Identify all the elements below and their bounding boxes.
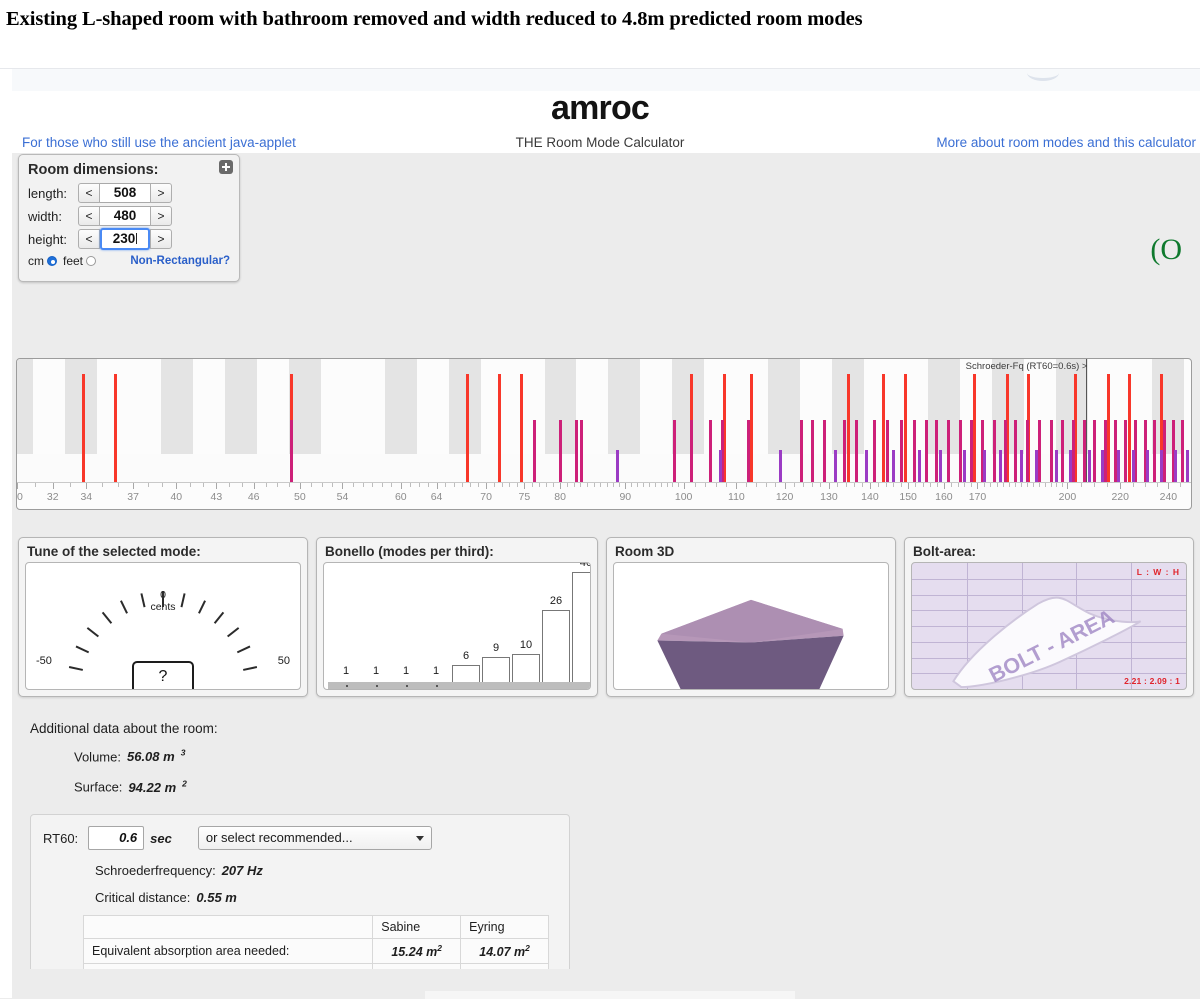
equivalent-area-eyring-exp: 2	[525, 943, 530, 953]
rt60-unit-label: sec	[150, 831, 172, 846]
bonello-bar-value: 1	[373, 665, 379, 677]
length-increment-button[interactable]: >	[150, 183, 172, 203]
mode-line-tangential[interactable]	[575, 420, 578, 482]
bonello-bar[interactable]	[572, 572, 591, 682]
mode-line-tangential[interactable]	[1181, 420, 1184, 482]
axis-tick-label: 43	[210, 491, 222, 503]
bonello-bar[interactable]	[376, 685, 378, 687]
mode-line-oblique[interactable]	[1186, 450, 1189, 482]
height-input-value: 230	[113, 231, 136, 246]
volume-exponent: 3	[181, 748, 186, 758]
axis-tick-label: 37	[127, 491, 139, 503]
mode-line-oblique[interactable]	[1020, 450, 1023, 482]
mode-line-axial[interactable]	[1107, 374, 1110, 482]
surface-row: Surface:94.22 m2	[74, 778, 730, 794]
volume-row: Volume:56.08 m3	[74, 748, 730, 764]
mode-line-oblique[interactable]	[779, 450, 782, 482]
tuner-max-label: 50	[278, 655, 290, 667]
axis-tick-label: 54	[337, 491, 349, 503]
bonello-bar-value: 10	[520, 639, 532, 651]
axis-tick-label: 50	[294, 491, 306, 503]
bonello-bar[interactable]	[452, 665, 480, 682]
tuner-tick	[69, 666, 83, 671]
rt60-section: RT60: 0.6 sec or select recommended... S…	[30, 814, 570, 991]
mode-line-tangential[interactable]	[823, 420, 826, 482]
mode-line-oblique[interactable]	[1160, 450, 1163, 482]
length-decrement-button[interactable]: <	[78, 183, 100, 203]
page-title: Existing L-shaped room with bathroom rem…	[0, 0, 1200, 34]
axis-tick-label: 120	[776, 491, 794, 503]
surface-exponent: 2	[182, 778, 187, 788]
mode-line-tangential[interactable]	[1050, 420, 1053, 482]
rt60-select-value: or select recommended...	[206, 830, 353, 845]
table-col-eyring: Eyring	[461, 916, 549, 939]
table-row: Equivalent absorption area needed: 15.24…	[84, 939, 549, 964]
panel-bonello-title: Bonello (modes per third):	[325, 544, 591, 559]
tuner-min-label: -50	[36, 655, 52, 667]
bonello-bar-value: 1	[403, 665, 409, 677]
tuner-tick	[214, 612, 224, 624]
mode-line-tangential[interactable]	[690, 420, 693, 482]
mode-line-axial[interactable]	[114, 374, 117, 482]
mode-line-axial[interactable]	[498, 374, 501, 482]
mode-line-tangential[interactable]	[1093, 420, 1096, 482]
panel-room-3d: Room 3D	[606, 537, 896, 697]
axis-tick-label: 40	[170, 491, 182, 503]
tuner-tick	[180, 593, 185, 607]
page-left-edge	[0, 69, 12, 998]
table-header-row: Sabine Eyring	[84, 916, 549, 939]
green-logo-glyph: (O	[1150, 233, 1182, 267]
tuner-tick	[76, 646, 90, 654]
bonello-bar-value: 6	[463, 650, 469, 662]
panel-bolt-title: Bolt-area:	[913, 544, 1187, 559]
mode-line-tangential[interactable]	[900, 420, 903, 482]
axis-tick-label: 110	[728, 491, 745, 503]
width-label: width:	[28, 209, 78, 224]
mode-line-tangential[interactable]	[1153, 420, 1156, 482]
mode-line-tangential[interactable]	[800, 420, 803, 482]
row-label-equivalent-absorption-area: Equivalent absorption area needed:	[84, 939, 373, 964]
axis-tick-label: 130	[820, 491, 838, 503]
mode-line-oblique[interactable]	[834, 450, 837, 482]
frequency-axis: 3032343740434650546064707580901001101201…	[17, 482, 1191, 510]
tuner-tick	[243, 666, 257, 671]
mode-line-tangential[interactable]	[993, 420, 996, 482]
app-content: Room dimensions: length: < 508 > width: …	[0, 153, 1200, 999]
equivalent-area-sabine-exp: 2	[437, 943, 442, 953]
room-dimensions-panel: Room dimensions: length: < 508 > width: …	[18, 154, 240, 282]
rt60-recommended-select[interactable]: or select recommended...	[198, 826, 432, 850]
bonello-bars: 111169102640	[324, 563, 590, 689]
mode-line-oblique[interactable]	[1035, 450, 1038, 482]
mode-line-tangential[interactable]	[673, 420, 676, 482]
mode-line-tangential[interactable]	[855, 420, 858, 482]
app-top-strip	[0, 69, 1200, 91]
dimension-row-width: width: < 480 >	[28, 205, 230, 227]
axis-tick-label: 200	[1059, 491, 1077, 503]
schroederfrequency-value: 207 Hz	[222, 863, 263, 878]
mode-line-axial[interactable]	[82, 374, 85, 482]
mode-line-oblique[interactable]	[719, 450, 722, 482]
axis-tick-label: 220	[1111, 491, 1129, 503]
equivalent-area-eyring: 14.07 m2	[461, 939, 549, 964]
length-label: length:	[28, 186, 78, 201]
axis-tick-label: 140	[861, 491, 879, 503]
rt60-label: RT60:	[43, 831, 78, 846]
height-decrement-button[interactable]: <	[78, 229, 100, 249]
mode-line-tangential[interactable]	[873, 420, 876, 482]
axis-tick-label: 240	[1160, 491, 1178, 503]
mode-line-tangential[interactable]	[1038, 420, 1041, 482]
axis-tick-label: 70	[480, 491, 492, 503]
mode-line-oblique[interactable]	[1146, 450, 1149, 482]
mode-line-tangential[interactable]	[886, 420, 889, 482]
tuner-tick	[87, 627, 99, 637]
bonello-bar-value: 1	[433, 665, 439, 677]
surface-label: Surface:	[74, 780, 122, 795]
axis-tick-label: 160	[935, 491, 953, 503]
mode-line-oblique[interactable]	[1069, 450, 1072, 482]
mode-line-tangential[interactable]	[533, 420, 536, 482]
volume-value: 56.08 m	[127, 749, 175, 764]
tuner-tick	[162, 591, 164, 607]
mode-line-tangential[interactable]	[580, 420, 583, 482]
mode-line-tangential[interactable]	[811, 420, 814, 482]
mode-line-oblique[interactable]	[1088, 450, 1091, 482]
mode-line-tangential[interactable]	[709, 420, 712, 482]
schroederfrequency-row: Schroederfrequency:207 Hz	[95, 863, 557, 878]
mode-line-tangential[interactable]	[1061, 420, 1064, 482]
bonello-bar-value: 9	[493, 642, 499, 654]
link-more-about-room-modes[interactable]: More about room modes and this calculato…	[936, 135, 1196, 150]
unit-cm-label: cm	[28, 254, 44, 268]
bonello-bar-value: 26	[550, 595, 562, 607]
mode-line-oblique[interactable]	[1117, 450, 1120, 482]
mode-line-oblique[interactable]	[1132, 450, 1135, 482]
table-col-blank	[84, 916, 373, 939]
mode-line-oblique[interactable]	[999, 450, 1002, 482]
bolt-area-chart[interactable]: BOLT - AREA L : W : H 2.21 : 2.09 : 1	[911, 562, 1187, 690]
mode-line-axial[interactable]	[847, 374, 850, 482]
mode-line-tangential[interactable]	[1124, 420, 1127, 482]
length-input[interactable]: 508	[100, 183, 150, 203]
mode-line-axial[interactable]	[520, 374, 523, 482]
mode-line-oblique[interactable]	[1055, 450, 1058, 482]
axis-tick-label: 32	[47, 491, 59, 503]
close-icon[interactable]	[219, 160, 233, 174]
mode-line-oblique[interactable]	[1174, 450, 1177, 482]
bonello-bar-value: 40	[580, 562, 591, 569]
bonello-chart-body[interactable]: 111169102640	[323, 562, 591, 690]
mode-line-axial[interactable]	[466, 374, 469, 482]
height-input[interactable]: 230	[100, 228, 150, 250]
mode-line-oblique[interactable]	[939, 450, 942, 482]
mode-line-oblique[interactable]	[1101, 450, 1104, 482]
panel-tune-of-selected-mode: Tune of the selected mode: 0 cents -50 5…	[18, 537, 308, 697]
equivalent-area-sabine-value: 15.24 m	[391, 945, 437, 959]
panel-tune-title: Tune of the selected mode:	[27, 544, 301, 559]
dimension-row-length: length: < 508 >	[28, 182, 230, 204]
room-dimensions-title: Room dimensions:	[28, 162, 230, 178]
mode-line-tangential[interactable]	[913, 420, 916, 482]
height-label: height:	[28, 232, 78, 247]
mode-line-oblique[interactable]	[616, 450, 619, 482]
critical-distance-row: Critical distance:0.55 m	[95, 890, 557, 905]
mode-line-tangential[interactable]	[1072, 420, 1075, 482]
axis-tick-label: 150	[899, 491, 917, 503]
mode-line-tangential[interactable]	[959, 420, 962, 482]
equivalent-area-eyring-value: 14.07 m	[479, 945, 525, 959]
bonello-bar[interactable]	[542, 610, 570, 682]
tuner-readout: ?	[132, 661, 194, 690]
loading-arc-icon	[1027, 63, 1059, 81]
axis-tick-label: 75	[519, 491, 531, 503]
mode-line-tangential[interactable]	[925, 420, 928, 482]
mode-line-oblique[interactable]	[892, 450, 895, 482]
link-java-applet[interactable]: For those who still use the ancient java…	[22, 135, 296, 150]
brand-logo: amroc	[0, 89, 1200, 128]
axis-tick-label: 100	[675, 491, 693, 503]
text-caret	[136, 233, 137, 244]
volume-label: Volume:	[74, 749, 121, 764]
mode-line-tangential[interactable]	[843, 420, 846, 482]
additional-data-section: Additional data about the room: Volume:5…	[30, 721, 730, 809]
bolt-axes-label: L : W : H	[1137, 567, 1180, 577]
mode-line-tangential[interactable]	[290, 420, 293, 482]
mode-line-tangential[interactable]	[559, 420, 562, 482]
panel-bonello: Bonello (modes per third): 111169102640	[316, 537, 598, 697]
footer-strip	[0, 969, 1200, 999]
mode-line-axial[interactable]	[882, 374, 885, 482]
width-increment-button[interactable]: >	[150, 206, 172, 226]
bonello-bar[interactable]	[406, 685, 408, 687]
tuner-tick	[227, 627, 239, 637]
bonello-baseline	[328, 682, 591, 689]
room-3d-view[interactable]	[613, 562, 889, 690]
axis-tick-label: 170	[969, 491, 987, 503]
room-3d-shape	[614, 563, 888, 689]
unit-cm-radio[interactable]	[47, 256, 57, 266]
width-decrement-button[interactable]: <	[78, 206, 100, 226]
table-col-sabine: Sabine	[373, 916, 461, 939]
panel-bolt-area: Bolt-area: BOLT - AREA L : W : H 2.21 : …	[904, 537, 1194, 697]
critical-distance-label: Critical distance:	[95, 890, 190, 905]
mode-line-oblique[interactable]	[983, 450, 986, 482]
axis-tick-label: 80	[554, 491, 566, 503]
axis-tick-label: 64	[431, 491, 443, 503]
height-increment-button[interactable]: >	[150, 229, 172, 249]
bonello-bar-value: 1	[343, 665, 349, 677]
dimension-row-height: height: < 230 >	[28, 228, 230, 250]
tuner-tick	[120, 600, 128, 613]
unit-selector: cm feet Non-Rectangular?	[28, 254, 230, 268]
mode-line-oblique[interactable]	[865, 450, 868, 482]
unit-feet-label: feet	[63, 254, 83, 268]
axis-tick-label: 90	[619, 491, 631, 503]
schroederfrequency-label: Schroederfrequency:	[95, 863, 216, 878]
unit-feet-radio[interactable]	[86, 256, 96, 266]
chevron-down-icon	[416, 836, 424, 841]
mode-line-axial[interactable]	[973, 374, 976, 482]
panel-room3d-title: Room 3D	[615, 544, 889, 559]
bonello-bar[interactable]	[436, 685, 438, 687]
schroeder-frequency-label: Schroeder-Fq (RT60=0.6s) >	[966, 361, 1091, 372]
mode-line-tangential[interactable]	[1083, 420, 1086, 482]
additional-data-heading: Additional data about the room:	[30, 721, 730, 736]
surface-value: 94.22 m	[128, 780, 176, 795]
mode-spectrum-chart[interactable]: Schroeder-Fq (RT60=0.6s) > 3032343740434…	[16, 358, 1192, 510]
equivalent-area-sabine: 15.24 m2	[373, 939, 461, 964]
axis-tick-label: 60	[395, 491, 407, 503]
bolt-area-region: BOLT - AREA	[912, 563, 1186, 689]
axis-tick-label: 46	[248, 491, 260, 503]
bonello-bar[interactable]	[482, 657, 510, 682]
tuner-tick	[140, 593, 145, 607]
amroc-app-frame: amroc THE Room Mode Calculator For those…	[0, 68, 1200, 998]
mode-line-tangential[interactable]	[1104, 420, 1107, 482]
width-input[interactable]: 480	[100, 206, 150, 226]
rt60-input[interactable]: 0.6	[88, 826, 144, 850]
non-rectangular-link[interactable]: Non-Rectangular?	[130, 255, 230, 267]
mode-line-tangential[interactable]	[1014, 420, 1017, 482]
tuner-tick	[237, 646, 251, 654]
mode-line-tangential[interactable]	[970, 420, 973, 482]
mode-line-axial[interactable]	[904, 374, 907, 482]
bolt-ratio-label: 2.21 : 2.09 : 1	[1124, 676, 1180, 686]
mode-line-tangential[interactable]	[1026, 420, 1029, 482]
mode-line-oblique[interactable]	[918, 450, 921, 482]
bonello-bar[interactable]	[512, 654, 540, 682]
mode-line-tangential[interactable]	[947, 420, 950, 482]
tuner-tick	[198, 600, 206, 613]
mode-line-tangential[interactable]	[747, 420, 750, 482]
tuner-gauge[interactable]: 0 cents -50 50 ?	[25, 562, 301, 690]
mode-line-oblique[interactable]	[963, 450, 966, 482]
critical-distance-value: 0.55 m	[196, 890, 236, 905]
axis-tick-label: 30	[16, 491, 23, 503]
axis-tick-label: 34	[80, 491, 92, 503]
mode-lines-container[interactable]	[17, 359, 1191, 482]
mode-line-tangential[interactable]	[935, 420, 938, 482]
tuner-tick	[102, 612, 112, 624]
schroeder-frequency-line	[1086, 359, 1087, 482]
bonello-bar[interactable]	[346, 685, 348, 687]
mode-line-tangential[interactable]	[1004, 420, 1007, 482]
rt60-row: RT60: 0.6 sec or select recommended...	[43, 825, 557, 851]
app-header: amroc THE Room Mode Calculator For those…	[0, 91, 1200, 153]
